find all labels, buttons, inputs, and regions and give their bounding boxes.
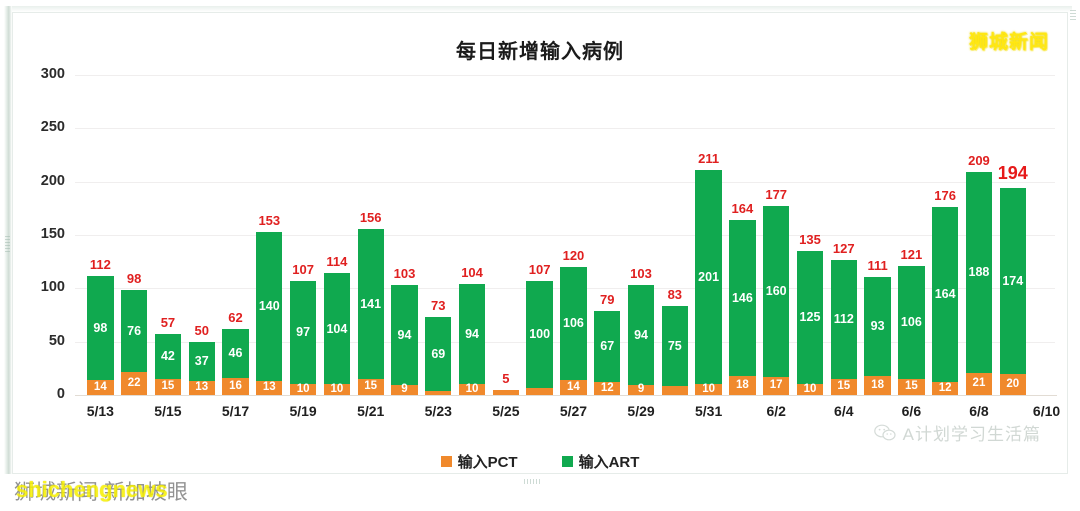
y-axis-tick: 0 [13,386,65,402]
bar-segment-art[interactable]: 164 [932,207,958,382]
bar-segment-art-value: 37 [195,355,209,368]
x-axis-tick: 5/19 [289,403,316,419]
legend-item-pct[interactable]: 输入PCT [441,451,518,472]
bar-segment-pct-value: 10 [330,384,343,396]
bar-segment-art-value: 104 [326,323,347,336]
bar-column[interactable]: 83758 [662,75,688,395]
bar-segment-art[interactable]: 42 [155,334,181,379]
bar-segment-pct[interactable]: 18 [729,376,755,395]
bar-segment-art[interactable]: 67 [594,311,620,382]
bar-total-label: 73 [431,298,445,313]
bar-segment-art-value: 146 [732,292,753,305]
bar-segment-pct[interactable]: 13 [256,381,282,395]
watermark-bottom-left-en: shichengnews [16,477,168,503]
bar-segment-art-value: 67 [600,340,614,353]
bar-column[interactable]: 11410410 [324,75,350,395]
bar-total-label: 79 [600,292,614,307]
bar-column[interactable]: 503713 [189,75,215,395]
legend-swatch-pct-icon [441,456,452,467]
bar-segment-pct[interactable]: 10 [695,384,721,395]
bar-total-label: 103 [630,266,652,281]
bar-segment-art[interactable]: 174 [1000,188,1026,374]
watermark-bottom-right: A计划学习生活篇 [874,420,1041,445]
bar-column[interactable]: 1119318 [864,75,890,395]
bar-total-label: 107 [529,262,551,277]
bar-total-label: 211 [698,151,719,166]
bar-segment-art-value: 42 [161,350,175,363]
bar-column[interactable]: 15614115 [358,75,384,395]
bar-segment-pct-value: 10 [804,384,817,396]
bar-column[interactable]: 1071007 [526,75,552,395]
bar-segment-pct-value: 22 [128,378,141,390]
bar-total-label: 107 [292,262,314,277]
x-axis-tick: 6/6 [902,403,921,419]
bar-total-label: 153 [258,213,280,228]
bar-segment-art[interactable]: 37 [189,342,215,381]
bar-column[interactable]: 55 [493,75,519,395]
bar-segment-art-value: 112 [834,313,854,326]
x-axis-tick: 5/27 [560,403,587,419]
bar-total-label: 62 [228,310,242,325]
x-axis-tick: 5/15 [154,403,181,419]
bar-segment-art-value: 106 [901,316,922,329]
bar-segment-art[interactable]: 125 [797,251,823,384]
y-axis-tick: 100 [13,279,65,295]
bar-segment-pct[interactable]: 10 [290,384,316,395]
bar-column[interactable]: 73694 [425,75,451,395]
bar-segment-art-value: 94 [398,329,412,342]
y-axis-tick: 50 [13,333,65,349]
bar-segment-art-value: 100 [529,328,550,341]
bar-column[interactable]: 12711215 [831,75,857,395]
bar-segment-pct-value: 18 [871,380,884,392]
y-axis-tick: 250 [13,119,65,135]
bar-column[interactable]: 20918821 [966,75,992,395]
bar-segment-art-value: 69 [431,348,445,361]
bar-segment-pct[interactable]: 18 [864,376,890,395]
bar-total-label: 177 [765,187,787,202]
bar-segment-pct[interactable]: 12 [932,382,958,395]
bar-column[interactable]: 796712 [594,75,620,395]
bar-segment-pct[interactable]: 15 [358,379,384,395]
bar-total-label: 121 [901,247,923,262]
bar-segment-pct[interactable]: 15 [155,379,181,395]
bar-segment-art-value: 94 [634,329,648,342]
x-axis-tick: 6/2 [766,403,785,419]
bar-segment-art-value: 188 [969,266,990,279]
bar-column[interactable]: 21120110 [695,75,721,395]
watermark-top-right: 狮城新闻 [969,27,1049,54]
legend-label-art: 输入ART [579,451,640,472]
legend-swatch-art-icon [562,456,573,467]
bar-segment-pct-value: 16 [229,381,242,393]
bar-total-label: 120 [563,248,585,263]
chart-title: 每日新增输入病例 [13,35,1067,64]
x-axis-tick: 5/23 [425,403,452,419]
bar-total-label: 114 [326,254,347,269]
plot-area: 1129814987622574215503713624616153140131… [75,75,1055,395]
resize-handle-top-right[interactable] [1070,10,1076,20]
bar-total-label: 135 [799,232,821,247]
document-page: 每日新增输入病例 狮城新闻 050100150200250300 1129814… [0,0,1080,511]
bar-segment-art[interactable]: 76 [121,290,147,371]
bar-segment-art-value: 76 [127,325,141,338]
bar-segment-pct[interactable]: 20 [1000,374,1026,395]
bar-total-label: 104 [461,265,483,280]
x-axis-tick: 6/10 [1033,403,1060,419]
bar-column[interactable]: 1049410 [459,75,485,395]
bar-column[interactable]: 1129814 [87,75,113,395]
bar-total-label: 103 [394,266,416,281]
bar-segment-pct[interactable]: 9 [391,385,417,395]
bar-segment-pct[interactable]: 9 [628,385,654,395]
x-axis-tick: 6/8 [969,403,988,419]
x-axis-line [75,395,1057,396]
bar-segment-art[interactable]: 93 [864,277,890,376]
y-axis-tick: 300 [13,66,65,82]
x-axis-tick: 6/4 [834,403,853,419]
x-axis-tick: 5/31 [695,403,722,419]
bar-segment-art[interactable]: 69 [425,317,451,391]
bar-segment-art[interactable]: 75 [662,306,688,386]
bar-segment-art[interactable]: 94 [459,284,485,384]
bar-segment-art[interactable]: 94 [391,285,417,385]
bar-segment-pct[interactable]: 14 [560,380,586,395]
x-axis-tick: 5/17 [222,403,249,419]
bar-segment-pct[interactable]: 12 [594,382,620,395]
bar-segment-art-value: 201 [698,271,719,284]
watermark-bottom-right-label: A计划学习生活篇 [903,420,1041,445]
bar-segment-pct-value: 17 [770,380,783,392]
bar-segment-art[interactable]: 140 [256,232,282,381]
bar-segment-pct[interactable]: 22 [121,372,147,395]
bar-segment-pct-value: 10 [702,384,715,396]
bar-segment-art[interactable]: 141 [358,229,384,379]
x-axis-tick: 5/29 [627,403,654,419]
bar-segment-art-value: 93 [871,320,885,333]
bar-total-label: 176 [934,188,956,203]
bar-segment-pct-value: 12 [939,383,952,395]
bar-segment-pct[interactable]: 10 [324,384,350,395]
bar-segment-art-value: 75 [668,340,682,353]
bar-column[interactable]: 12010614 [560,75,586,395]
bar-total-label: 50 [194,323,208,338]
bar-column[interactable]: 624616 [222,75,248,395]
bar-column[interactable]: 16414618 [729,75,755,395]
bar-column[interactable]: 12110615 [898,75,924,395]
bar-column[interactable]: 1079710 [290,75,316,395]
bar-segment-art-value: 141 [360,298,381,311]
bar-total-label: 83 [668,287,682,302]
x-axis-tick: 5/25 [492,403,519,419]
bar-segment-art[interactable]: 160 [763,206,789,377]
bar-segment-pct-value: 15 [162,381,175,393]
bar-segment-pct[interactable]: 14 [87,380,113,395]
resize-handle-bottom[interactable] [524,479,542,484]
watermark-bottom-left: 狮城新闻 新加坡眼 shichengnews [14,471,294,505]
bar-column[interactable]: 15314013 [256,75,282,395]
bar-column[interactable]: 13512510 [797,75,823,395]
bar-column[interactable]: 17716017 [763,75,789,395]
bar-segment-pct[interactable]: 16 [222,378,248,395]
bar-segment-pct[interactable]: 10 [459,384,485,395]
bar-segment-art[interactable]: 188 [966,172,992,373]
bar-segment-art-value: 160 [766,285,787,298]
bar-column[interactable]: 987622 [121,75,147,395]
bar-segment-pct-value: 21 [973,378,986,390]
bar-segment-art[interactable]: 146 [729,220,755,376]
bar-segment-art-value: 174 [1002,275,1023,288]
bar-segment-pct-value: 15 [364,381,377,393]
bar-total-label: 209 [968,153,990,168]
bar-column[interactable]: 17616412 [932,75,958,395]
bar-column[interactable]: 103949 [391,75,417,395]
bar-total-label: 5 [502,371,509,386]
bar-segment-pct[interactable]: 15 [898,379,924,395]
bar-segment-art[interactable]: 106 [898,266,924,379]
bar-segment-pct-value: 10 [466,384,479,396]
bar-total-label: 111 [867,258,887,273]
bar-segment-pct-value: 13 [195,382,208,394]
y-axis-tick-labels: 050100150200250300 [13,75,65,395]
chart-container: 每日新增输入病例 狮城新闻 050100150200250300 1129814… [12,12,1068,474]
bar-total-label: 194 [998,163,1028,184]
bar-segment-art[interactable]: 97 [290,281,316,384]
bar-segment-art-value: 164 [935,288,956,301]
bar-column[interactable]: 574215 [155,75,181,395]
bar-segment-pct-value: 15 [837,381,850,393]
bar-total-label: 164 [732,201,754,216]
bar-total-label: 127 [833,241,855,256]
wechat-icon [874,424,896,442]
bar-segment-pct-value: 13 [263,382,276,394]
bar-segment-art-value: 98 [93,322,107,335]
bar-segment-pct-value: 10 [297,384,310,396]
bar-column[interactable]: 19417420 [1000,75,1026,395]
bar-column[interactable]: 103949 [628,75,654,395]
bar-segment-pct-value: 20 [1006,379,1019,391]
bar-segment-pct-value: 15 [905,381,918,393]
bar-segment-art[interactable]: 94 [628,285,654,385]
bar-segment-art-value: 125 [800,311,821,324]
bar-segment-art-value: 106 [563,317,584,330]
bar-segment-pct-value: 14 [567,382,580,394]
bar-segment-art[interactable]: 98 [87,276,113,381]
y-axis-tick: 200 [13,173,65,189]
legend-label-pct: 输入PCT [458,451,518,472]
bar-segment-art-value: 97 [296,326,310,339]
bar-segment-pct[interactable]: 13 [189,381,215,395]
bar-segment-art-value: 140 [259,300,280,313]
chart-legend: 输入PCT 输入ART [13,451,1067,472]
bar-segment-pct-value: 12 [601,383,614,395]
legend-item-art[interactable]: 输入ART [562,451,640,472]
bar-segment-pct-value: 14 [94,382,107,394]
bar-segment-pct[interactable]: 7 [526,388,552,395]
bar-total-label: 112 [90,257,111,272]
bar-total-label: 57 [161,315,175,330]
bar-segment-art-value: 94 [465,328,479,341]
bar-segment-pct-value: 18 [736,380,749,392]
bar-segment-pct[interactable]: 10 [797,384,823,395]
bar-segment-art[interactable]: 100 [526,281,552,388]
bar-segment-pct[interactable]: 8 [662,386,688,395]
x-axis-tick: 5/13 [87,403,114,419]
bar-segment-art-value: 46 [229,347,243,360]
bar-segment-pct[interactable]: 17 [763,377,789,395]
bar-segment-art[interactable]: 46 [222,329,248,378]
x-axis-tick: 5/21 [357,403,384,419]
bar-segment-pct[interactable]: 15 [831,379,857,395]
bar-segment-art[interactable]: 112 [831,260,857,379]
bar-total-label: 156 [360,210,382,225]
bar-segment-art[interactable]: 201 [695,170,721,384]
bar-total-label: 98 [127,271,141,286]
bar-segment-art[interactable]: 106 [560,267,586,380]
bar-segment-pct[interactable]: 21 [966,373,992,395]
resize-handle-left[interactable] [5,236,10,252]
bar-segment-art[interactable]: 104 [324,273,350,384]
y-axis-tick: 150 [13,226,65,242]
